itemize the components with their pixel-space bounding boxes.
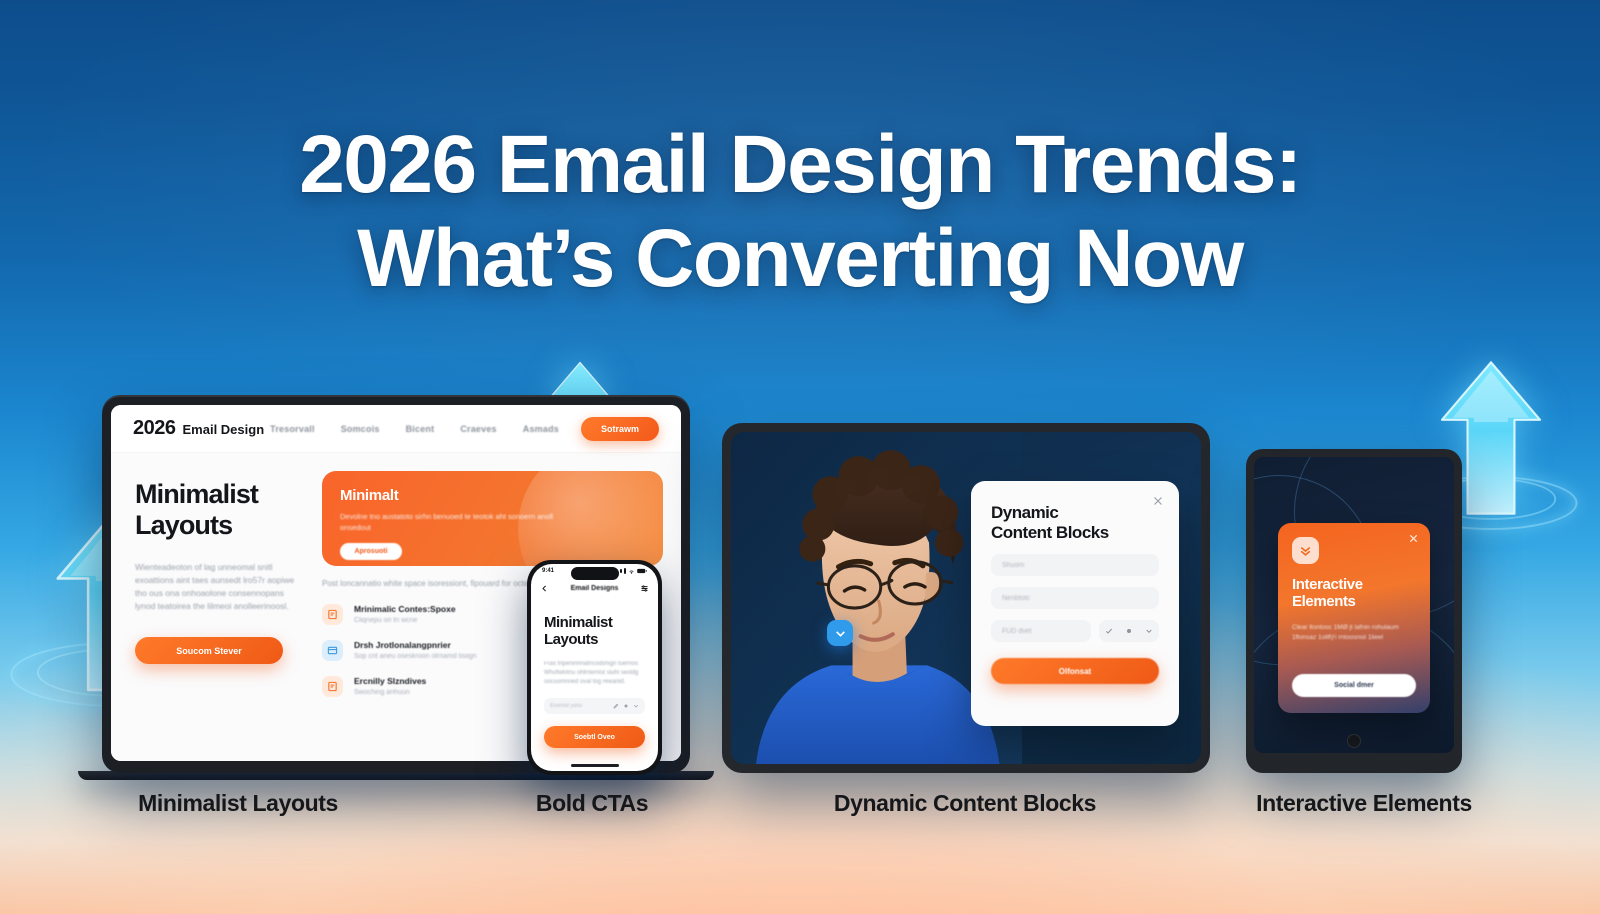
mini-tablet-screen: Interactive Elements Clear ltontosc 1MØ … bbox=[1254, 457, 1454, 753]
laptop-nav-item-2[interactable]: Somcois bbox=[341, 424, 380, 434]
phone-input-placeholder: Enernol ysno bbox=[550, 703, 609, 709]
close-icon[interactable] bbox=[1152, 495, 1164, 507]
phone-main: Minimalist Layouts Fras tnpeninhnatncods… bbox=[531, 598, 658, 748]
tablet-field-row: FUD dvet bbox=[991, 609, 1159, 642]
laptop-hero-card: Minimalt Devolne tno austatoto sirhn ben… bbox=[322, 471, 663, 566]
laptop-nav-items: Tresorvall Somcois Bicent Craeves Asmads bbox=[270, 424, 559, 434]
tablet-field-placeholder: Shuom bbox=[1002, 562, 1024, 569]
phone-input-field[interactable]: Enernol ysno bbox=[544, 698, 645, 714]
list-item-title: Drsh Jrotlonalangpnrier bbox=[354, 640, 477, 650]
laptop-nav-item-3[interactable]: Bicent bbox=[406, 424, 435, 434]
edit-icon[interactable] bbox=[613, 703, 619, 709]
chevron-left-icon[interactable] bbox=[540, 584, 549, 593]
tablet-screen: Dynamic Content Blocks Shuom Nenbtotc FU… bbox=[731, 432, 1201, 764]
phone-heading: Minimalist Layouts bbox=[544, 614, 645, 648]
phone-status-time: 9:41 bbox=[542, 568, 554, 574]
double-chevron-down-icon bbox=[1292, 537, 1319, 564]
mini-card-button[interactable]: Social dmer bbox=[1292, 674, 1416, 697]
list-item-title: Mrinimalic Contes:Spoxe bbox=[354, 604, 456, 614]
laptop-hero-button[interactable]: Aprosuoti bbox=[340, 543, 402, 560]
document-icon bbox=[322, 604, 343, 625]
laptop-nav-item-5[interactable]: Asmads bbox=[523, 424, 559, 434]
laptop-brand[interactable]: 2026 Email Design bbox=[133, 417, 264, 440]
list-item-subtitle: Swoching arihuun bbox=[354, 689, 426, 696]
window-icon bbox=[322, 640, 343, 661]
title-line-1: 2026 Email Design Trends: bbox=[0, 118, 1600, 212]
phone-screen: 9:41 Email Designs Minimalist Layouts Fr… bbox=[531, 564, 658, 771]
chevron-down-icon[interactable] bbox=[1145, 627, 1153, 635]
wifi-icon bbox=[628, 568, 635, 575]
list-item-subtitle: Sop cnt aneu oseskroon olrriamd tisiign bbox=[354, 653, 477, 660]
tablet-modal: Dynamic Content Blocks Shuom Nenbtotc FU… bbox=[971, 481, 1179, 726]
laptop-left-column: Minimalist Layouts Wienteadeoton of lag … bbox=[111, 453, 316, 761]
tablet-heading-line-1: Dynamic bbox=[991, 503, 1159, 523]
phone-primary-cta-button[interactable]: Soebtl Oveo bbox=[544, 726, 645, 748]
phone-status-bar: 9:41 bbox=[531, 564, 658, 578]
mini-heading-line-2: Elements bbox=[1292, 593, 1416, 610]
laptop-primary-cta-button[interactable]: Soucom Stever bbox=[135, 637, 283, 664]
mini-tablet-device: Interactive Elements Clear ltontosc 1MØ … bbox=[1246, 449, 1462, 773]
phone-header: Email Designs bbox=[531, 578, 658, 598]
home-button[interactable] bbox=[1347, 734, 1361, 748]
phone-notch bbox=[571, 567, 619, 580]
laptop-hero-title: Minimalt bbox=[340, 487, 645, 504]
list-item-subtitle: Cliqnepu ori tri wcne bbox=[354, 617, 456, 624]
filter-icon[interactable] bbox=[640, 584, 649, 593]
signal-bar-icon bbox=[620, 569, 622, 574]
mini-card-heading: Interactive Elements bbox=[1292, 576, 1416, 610]
laptop-nav-item-1[interactable]: Tresorvall bbox=[270, 424, 315, 434]
title-line-2: What’s Converting Now bbox=[0, 212, 1600, 306]
laptop-brand-name: Email Design bbox=[183, 422, 265, 437]
tablet-input-field-3[interactable]: FUD dvet bbox=[991, 620, 1091, 642]
close-icon[interactable] bbox=[1408, 533, 1419, 544]
chevron-down-icon[interactable] bbox=[633, 703, 639, 709]
battery-icon bbox=[637, 568, 647, 574]
caption-interactive-elements: Interactive Elements bbox=[1256, 790, 1472, 817]
phone-home-indicator bbox=[571, 764, 619, 767]
laptop-hero-paragraph: Devolne tno austatoto sirhn benuoed te t… bbox=[340, 511, 566, 533]
tablet-field-placeholder: FUD dvet bbox=[1002, 628, 1032, 635]
laptop-navbar: 2026 Email Design Tresorvall Somcois Bic… bbox=[111, 405, 681, 453]
laptop-nav-item-4[interactable]: Craeves bbox=[460, 424, 496, 434]
phone-paragraph: Fras tnpeninhnatncodshign tuernos Whofwl… bbox=[544, 660, 645, 687]
caption-minimalist-layouts: Minimalist Layouts bbox=[138, 790, 338, 817]
phone-device: 9:41 Email Designs Minimalist Layouts Fr… bbox=[527, 560, 662, 775]
tablet-field-actions bbox=[1099, 620, 1159, 642]
interactive-elements-card: Interactive Elements Clear ltontosc 1MØ … bbox=[1278, 523, 1430, 713]
record-icon[interactable] bbox=[1125, 627, 1133, 635]
laptop-nav-cta-button[interactable]: Sotrawm bbox=[581, 417, 659, 441]
document-icon bbox=[322, 676, 343, 697]
tablet-device: Dynamic Content Blocks Shuom Nenbtotc FU… bbox=[722, 423, 1210, 773]
laptop-paragraph: Wienteadeoton of lag unneomal snitl exoa… bbox=[135, 561, 298, 613]
tablet-input-field-1[interactable]: Shuom bbox=[991, 554, 1159, 576]
chevron-down-badge-icon[interactable] bbox=[827, 620, 853, 646]
mini-card-paragraph: Clear ltontosc 1MØ jt lafnin rohulaum 1f… bbox=[1292, 623, 1416, 643]
tablet-input-field-2[interactable]: Nenbtotc bbox=[991, 587, 1159, 609]
tablet-primary-cta-button[interactable]: Olfonsat bbox=[991, 658, 1159, 684]
tablet-modal-heading: Dynamic Content Blocks bbox=[991, 503, 1159, 543]
laptop-brand-year: 2026 bbox=[133, 417, 176, 440]
phone-status-icons bbox=[616, 568, 647, 575]
record-icon[interactable] bbox=[623, 703, 629, 709]
tablet-field-placeholder: Nenbtotc bbox=[1002, 595, 1030, 602]
mini-heading-line-1: Interactive bbox=[1292, 576, 1416, 593]
phone-header-title: Email Designs bbox=[555, 585, 634, 592]
laptop-heading: Minimalist Layouts bbox=[135, 479, 298, 541]
check-icon[interactable] bbox=[1105, 627, 1113, 635]
signal-bar-icon bbox=[624, 568, 626, 574]
list-item-title: Ercnilly Slzndives bbox=[354, 676, 426, 686]
caption-dynamic-content-blocks: Dynamic Content Blocks bbox=[834, 790, 1096, 817]
page-title: 2026 Email Design Trends: What’s Convert… bbox=[0, 118, 1600, 306]
tablet-heading-line-2: Content Blocks bbox=[991, 523, 1159, 543]
caption-bold-ctas: Bold CTAs bbox=[536, 790, 648, 817]
